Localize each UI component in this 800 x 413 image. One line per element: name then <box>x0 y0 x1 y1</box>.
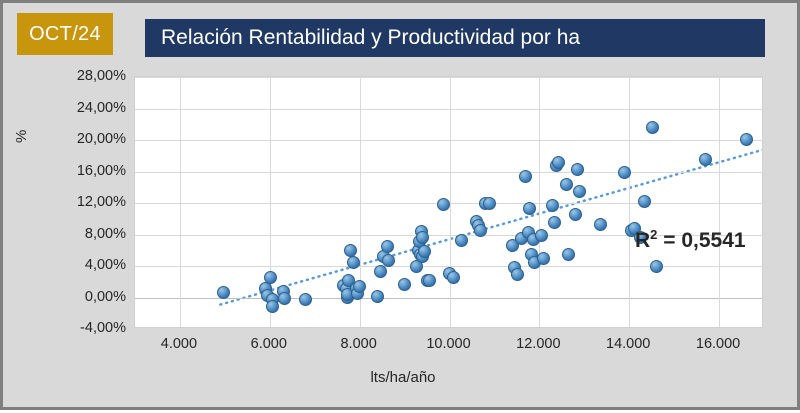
scatter-point <box>638 195 651 208</box>
y-axis-tick-label: 8,00% <box>16 226 126 242</box>
scatter-point <box>537 252 550 265</box>
y-axis-tick-label: -4,00% <box>16 320 126 336</box>
gridline-vertical <box>719 77 720 327</box>
scatter-point <box>560 178 573 191</box>
r-squared-annotation: R2 = 0,5541 <box>635 227 746 253</box>
x-axis-ticks: 4.0006.0008.00010.00012.00014.00016.000 <box>3 336 800 366</box>
scatter-point <box>382 254 395 267</box>
y-axis-tick-label: 16,00% <box>16 163 126 179</box>
r-squared-prefix: R <box>635 229 650 252</box>
x-axis-tick-label: 10.000 <box>404 336 494 352</box>
scatter-point <box>437 198 450 211</box>
scatter-point <box>264 271 277 284</box>
scatter-point <box>571 163 584 176</box>
scatter-point <box>347 256 360 269</box>
y-axis-tick-label: 24,00% <box>16 100 126 116</box>
scatter-point <box>398 278 411 291</box>
scatter-point <box>646 121 659 134</box>
scatter-point <box>594 218 607 231</box>
y-axis-tick-label: 4,00% <box>16 257 126 273</box>
gridline-vertical <box>629 77 630 327</box>
scatter-point <box>650 260 663 273</box>
x-axis-tick-label: 14.000 <box>583 336 673 352</box>
gridline-vertical <box>539 77 540 327</box>
scatter-point <box>618 166 631 179</box>
y-axis-tick-label: 28,00% <box>16 68 126 84</box>
scatter-point <box>483 197 496 210</box>
scatter-point <box>474 224 487 237</box>
chart-frame: OCT/24 Relación Rentabilidad y Productiv… <box>0 0 800 410</box>
x-axis-tick-label: 4.000 <box>134 336 224 352</box>
scatter-point <box>371 290 384 303</box>
scatter-point <box>535 229 548 242</box>
scatter-point <box>548 216 561 229</box>
scatter-point <box>562 248 575 261</box>
gridline-horizontal <box>135 109 762 110</box>
scatter-point <box>344 244 357 257</box>
y-axis-tick-label: 0,00% <box>16 289 126 305</box>
scatter-point <box>299 293 312 306</box>
scatter-point <box>447 271 460 284</box>
x-axis-title: lts/ha/año <box>3 369 800 386</box>
scatter-point <box>455 234 468 247</box>
scatter-point <box>423 274 436 287</box>
x-axis-tick-label: 16.000 <box>673 336 763 352</box>
scatter-point <box>374 265 387 278</box>
scatter-point <box>353 280 366 293</box>
y-axis-tick-label: 20,00% <box>16 131 126 147</box>
gridline-horizontal <box>135 140 762 141</box>
scatter-point <box>519 170 532 183</box>
scatter-point <box>266 300 279 313</box>
scatter-point <box>278 292 291 305</box>
scatter-point <box>699 153 712 166</box>
scatter-point <box>552 156 565 169</box>
gridline-horizontal <box>135 298 762 299</box>
gridline-horizontal <box>135 77 762 78</box>
scatter-point <box>569 208 582 221</box>
x-axis-tick-label: 12.000 <box>493 336 583 352</box>
scatter-point <box>523 202 536 215</box>
x-axis-tick-label: 6.000 <box>224 336 314 352</box>
scatter-point <box>511 268 524 281</box>
scatter-point <box>416 231 429 244</box>
gridline-vertical <box>180 77 181 327</box>
scatter-point <box>740 133 753 146</box>
scatter-plot-area <box>134 76 763 328</box>
scatter-point <box>381 240 394 253</box>
y-axis-tick-label: 12,00% <box>16 194 126 210</box>
x-axis-tick-label: 8.000 <box>314 336 404 352</box>
chart-plot-wrapper: % 28,00%24,00%20,00%16,00%12,00%8,00%4,0… <box>3 3 800 413</box>
scatter-point <box>573 185 586 198</box>
scatter-point <box>546 199 559 212</box>
r-squared-value: = 0,5541 <box>657 229 745 252</box>
gridline-horizontal <box>135 172 762 173</box>
